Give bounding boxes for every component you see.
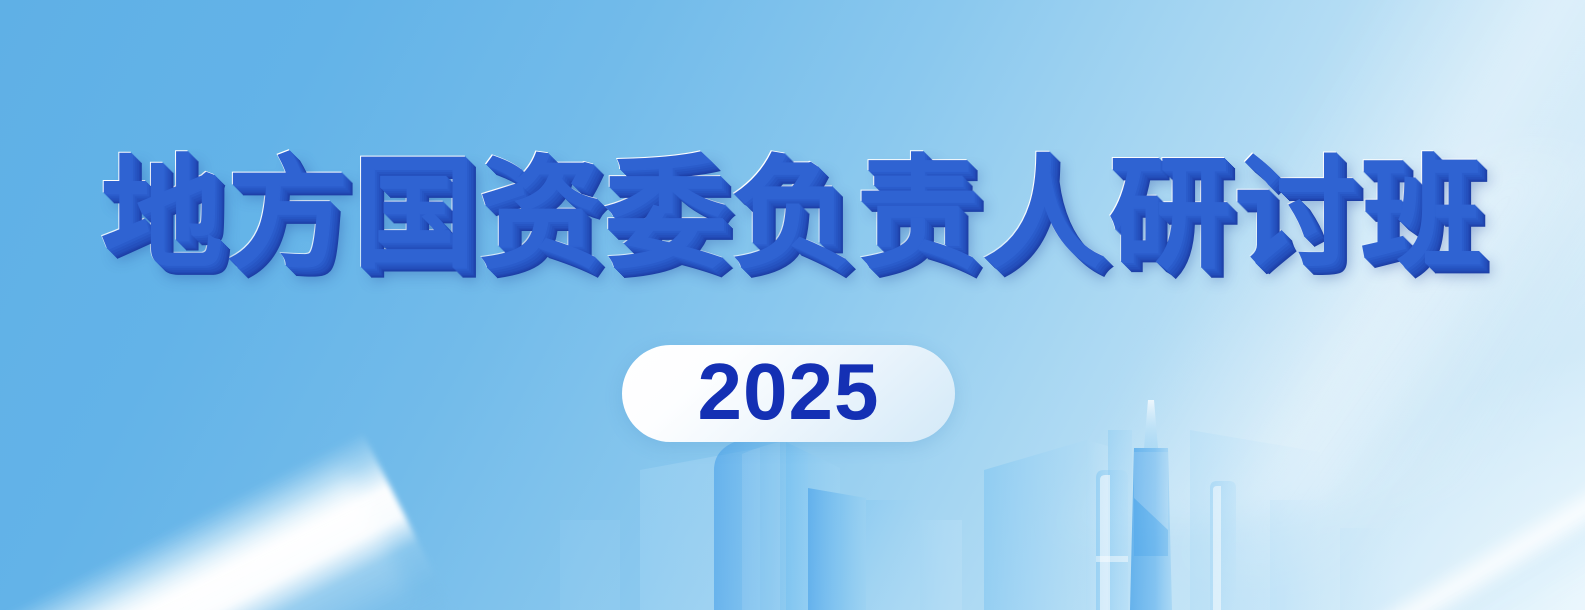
year-badge-label: 2025 (698, 352, 880, 432)
banner-hero: 地方国资委负责人研讨班 2025 (0, 0, 1585, 610)
year-badge: 2025 (622, 345, 955, 442)
page-title: 地方国资委负责人研讨班 (0, 148, 1585, 280)
city-skyline-icon (0, 0, 1585, 610)
page-title-text: 地方国资委负责人研讨班 (100, 142, 1486, 284)
